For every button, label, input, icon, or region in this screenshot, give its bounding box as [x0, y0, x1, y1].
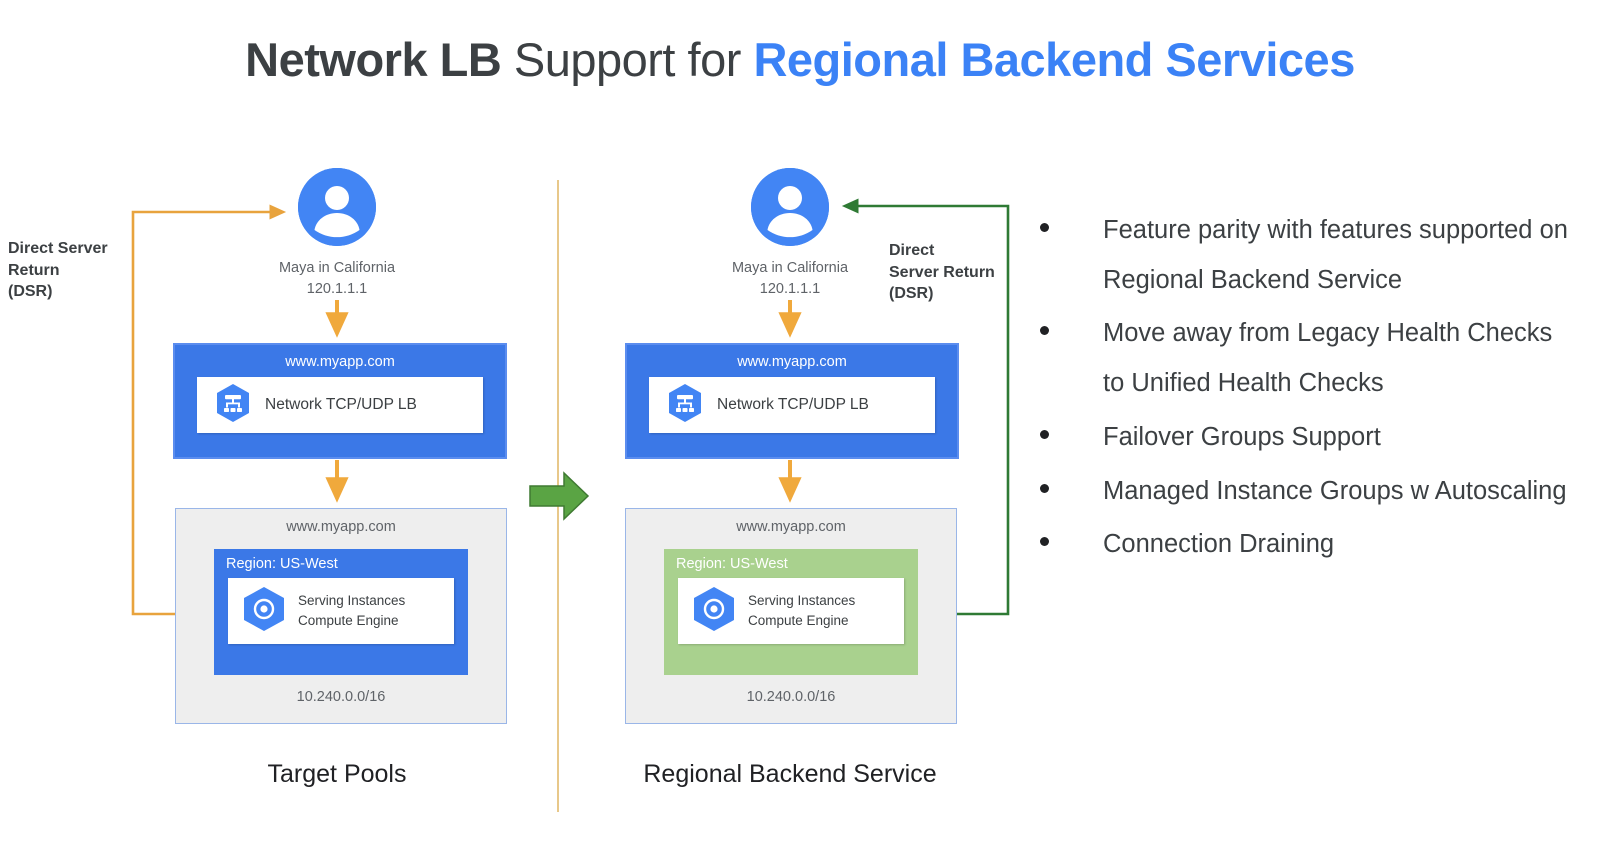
list-item: Failover Groups Support [1040, 413, 1580, 463]
right-lb-service-label: Network TCP/UDP LB [717, 395, 869, 416]
feature-bullet-list: Feature parity with features supported o… [1040, 206, 1580, 574]
bullet-text: Managed Instance Groups w Autoscaling [1103, 467, 1567, 517]
left-instances-line1: Serving Instances [298, 591, 405, 611]
left-region-label: Region: US-West [214, 549, 468, 572]
left-network-host: www.myapp.com [176, 509, 506, 535]
right-user-caption: Maya in California 120.1.1.1 [640, 258, 940, 300]
user-avatar-icon [298, 168, 376, 246]
left-lb-box: www.myapp.com Network TCP/UDP LB [173, 343, 507, 459]
compute-engine-icon [242, 586, 286, 637]
bullet-text: Connection Draining [1103, 520, 1334, 570]
left-cidr: 10.240.0.0/16 [176, 689, 506, 705]
left-user-caption: Maya in California 120.1.1.1 [187, 258, 487, 300]
list-item: Connection Draining [1040, 520, 1580, 570]
left-dsr-label: Direct Server Return (DSR) [8, 238, 108, 303]
network-load-balancer-icon [215, 383, 251, 428]
right-region-box: Region: US-West Serving Instances Comput… [664, 549, 918, 675]
right-instances-line2: Compute Engine [748, 611, 855, 631]
right-diagram-panel: Direct Server Return (DSR) Maya in Calif… [560, 0, 1120, 842]
list-item: Feature parity with features supported o… [1040, 206, 1580, 305]
bullet-dot-icon [1040, 326, 1049, 335]
compute-engine-icon [692, 586, 736, 637]
left-panel-label: Target Pools [127, 760, 547, 789]
right-network-box: www.myapp.com Region: US-West Serving In… [625, 508, 957, 724]
right-user-ip: 120.1.1.1 [640, 279, 940, 300]
left-instances-text: Serving Instances Compute Engine [298, 591, 405, 630]
right-instances-line1: Serving Instances [748, 591, 855, 611]
bullet-text: Move away from Legacy Health Checks to U… [1103, 309, 1580, 408]
bullet-text: Feature parity with features supported o… [1103, 206, 1580, 305]
network-load-balancer-icon [667, 383, 703, 428]
bullet-dot-icon [1040, 223, 1049, 232]
right-cidr: 10.240.0.0/16 [626, 689, 956, 705]
left-region-box: Region: US-West Serving Instances Comput… [214, 549, 468, 675]
left-network-box: www.myapp.com Region: US-West Serving In… [175, 508, 507, 724]
bullet-dot-icon [1040, 430, 1049, 439]
user-avatar-icon [751, 168, 829, 246]
list-item: Move away from Legacy Health Checks to U… [1040, 309, 1580, 408]
right-instances-text: Serving Instances Compute Engine [748, 591, 855, 630]
list-item: Managed Instance Groups w Autoscaling [1040, 467, 1580, 517]
right-network-host: www.myapp.com [626, 509, 956, 535]
left-lb-card: Network TCP/UDP LB [197, 377, 483, 433]
left-user-name: Maya in California [187, 258, 487, 279]
left-instances-card: Serving Instances Compute Engine [228, 578, 454, 644]
right-lb-box: www.myapp.com Network TCP/UDP LB [625, 343, 959, 459]
right-lb-card: Network TCP/UDP LB [649, 377, 935, 433]
bullet-text: Failover Groups Support [1103, 413, 1381, 463]
bullet-dot-icon [1040, 484, 1049, 493]
right-panel-label: Regional Backend Service [580, 760, 1000, 789]
left-diagram-panel: Direct Server Return (DSR) Maya in Calif… [0, 0, 560, 842]
bullet-dot-icon [1040, 537, 1049, 546]
left-lb-host: www.myapp.com [175, 345, 505, 377]
left-lb-service-label: Network TCP/UDP LB [265, 395, 417, 416]
right-user-name: Maya in California [640, 258, 940, 279]
left-instances-line2: Compute Engine [298, 611, 405, 631]
right-lb-host: www.myapp.com [627, 345, 957, 377]
right-instances-card: Serving Instances Compute Engine [678, 578, 904, 644]
right-region-label: Region: US-West [664, 549, 918, 572]
left-user-ip: 120.1.1.1 [187, 279, 487, 300]
